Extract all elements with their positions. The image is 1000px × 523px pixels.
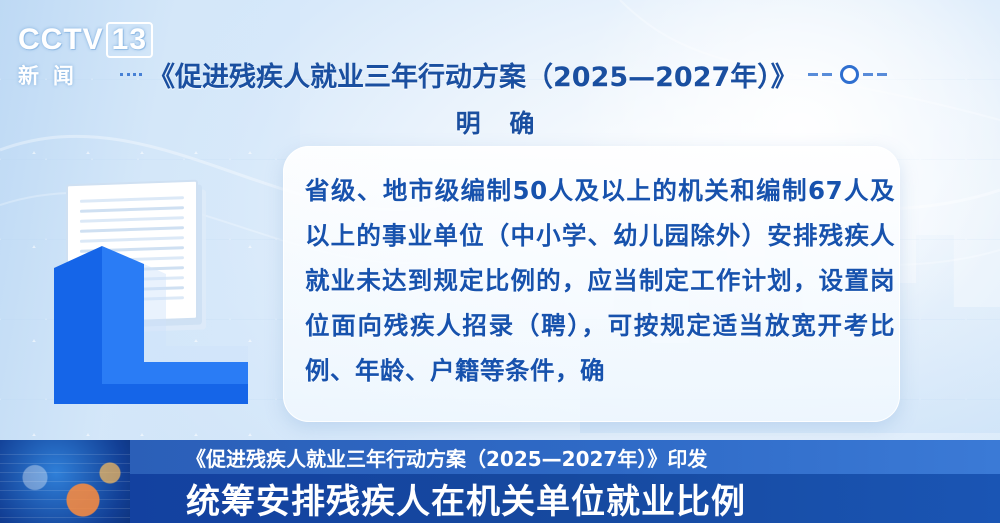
blue-podium-icon [48, 234, 264, 406]
content-card-text: 省级、地市级编制50人及以上的机关和编制67人及以上的事业单位（中小学、幼儿园除… [305, 168, 895, 393]
tail-dash-icon [863, 73, 873, 76]
broadcast-frame: CCTV13 新 闻 《促进残疾人就业三年行动方案（2025—2027年）》 明… [0, 0, 1000, 523]
title-dash-left-icon [120, 73, 142, 76]
tail-dash-icon [808, 73, 818, 76]
tail-dash-icon [877, 73, 887, 76]
globe-graphic-icon [0, 440, 140, 523]
title-tail-decoration [808, 65, 910, 84]
lower-third-subtitle: 《促进残疾人就业三年行动方案（2025—2027年）》印发 [186, 443, 707, 472]
lower-third-subtitle-bar: 《促进残疾人就业三年行动方案（2025—2027年）》印发 [130, 440, 1000, 474]
channel-logo-text: CCTV [18, 23, 104, 56]
lower-third-headline: 统筹安排残疾人在机关单位就业比例 [186, 474, 746, 523]
title-row: 《促进残疾人就业三年行动方案（2025—2027年）》 [120, 52, 910, 96]
lower-third-headline-bar: 统筹安排残疾人在机关单位就业比例 [130, 474, 1000, 523]
document-title: 《促进残疾人就业三年行动方案（2025—2027年）》 [148, 55, 798, 94]
tail-ring-icon [840, 65, 859, 84]
section-subtitle: 明 确 [0, 104, 1000, 140]
document-illustration [48, 170, 278, 420]
tail-dash-icon [822, 73, 832, 76]
